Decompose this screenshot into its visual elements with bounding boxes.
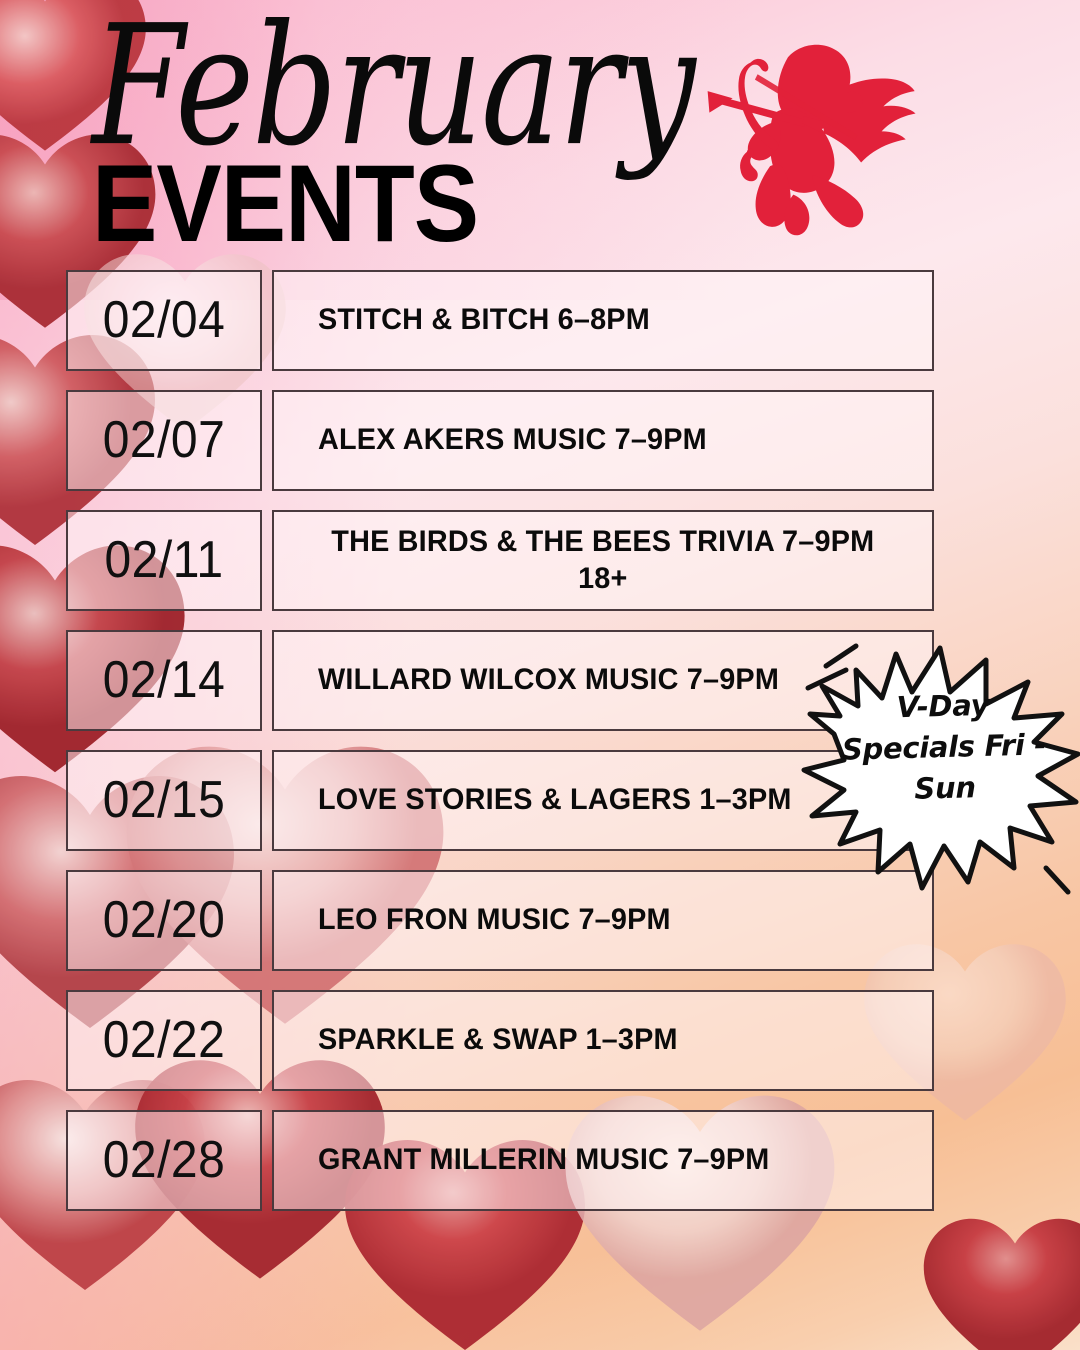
event-title-text: ALEX AKERS MUSIC 7–9PM bbox=[318, 422, 707, 459]
table-row: 02/04STITCH & BITCH 6–8PM bbox=[66, 270, 934, 371]
vday-specials-sticker[interactable]: V-Day Specials Fri - Sun bbox=[800, 630, 1080, 902]
event-date-cell: 02/28 bbox=[66, 1110, 262, 1211]
poster-canvas: February EVENTS bbox=[0, 0, 1080, 1350]
event-title-text: THE BIRDS & THE BEES TRIVIA 7–9PM18+ bbox=[332, 524, 875, 597]
event-date-text: 02/11 bbox=[104, 535, 223, 587]
event-date-cell: 02/04 bbox=[66, 270, 262, 371]
event-date-cell: 02/20 bbox=[66, 870, 262, 971]
event-date-cell: 02/15 bbox=[66, 750, 262, 851]
event-date-text: 02/07 bbox=[103, 415, 226, 467]
event-date-cell: 02/07 bbox=[66, 390, 262, 491]
table-row: 02/11THE BIRDS & THE BEES TRIVIA 7–9PM18… bbox=[66, 510, 934, 611]
watercolor-heart-decoration bbox=[920, 1215, 1080, 1350]
event-date-cell: 02/11 bbox=[66, 510, 262, 611]
event-date-text: 02/28 bbox=[103, 1135, 226, 1187]
event-title-text: LOVE STORIES & LAGERS 1–3PM bbox=[318, 782, 792, 819]
event-date-text: 02/14 bbox=[103, 655, 226, 707]
table-row: 02/22SPARKLE & SWAP 1–3PM bbox=[66, 990, 934, 1091]
event-title-cell: SPARKLE & SWAP 1–3PM bbox=[272, 990, 934, 1091]
event-date-cell: 02/14 bbox=[66, 630, 262, 731]
vday-specials-text: V-Day Specials Fri - Sun bbox=[834, 683, 1053, 812]
event-date-text: 02/20 bbox=[103, 895, 226, 947]
event-title-text: STITCH & BITCH 6–8PM bbox=[318, 302, 650, 339]
event-date-text: 02/22 bbox=[103, 1015, 226, 1067]
table-row: 02/07ALEX AKERS MUSIC 7–9PM bbox=[66, 390, 934, 491]
event-title-text: SPARKLE & SWAP 1–3PM bbox=[318, 1022, 678, 1059]
event-title-text: WILLARD WILCOX MUSIC 7–9PM bbox=[318, 662, 779, 699]
cupid-icon bbox=[688, 18, 920, 250]
event-title-text: LEO FRON MUSIC 7–9PM bbox=[318, 902, 671, 939]
poster-header: February EVENTS bbox=[0, 0, 1080, 268]
event-title-cell: GRANT MILLERIN MUSIC 7–9PM bbox=[272, 1110, 934, 1211]
event-title-text: GRANT MILLERIN MUSIC 7–9PM bbox=[318, 1142, 769, 1179]
page-title-block: EVENTS bbox=[92, 148, 478, 258]
event-date-text: 02/04 bbox=[103, 295, 226, 347]
event-date-text: 02/15 bbox=[103, 775, 226, 827]
table-row: 02/28GRANT MILLERIN MUSIC 7–9PM bbox=[66, 1110, 934, 1211]
event-title-cell: STITCH & BITCH 6–8PM bbox=[272, 270, 934, 371]
event-title-cell: ALEX AKERS MUSIC 7–9PM bbox=[272, 390, 934, 491]
event-date-cell: 02/22 bbox=[66, 990, 262, 1091]
event-title-cell: THE BIRDS & THE BEES TRIVIA 7–9PM18+ bbox=[272, 510, 934, 611]
